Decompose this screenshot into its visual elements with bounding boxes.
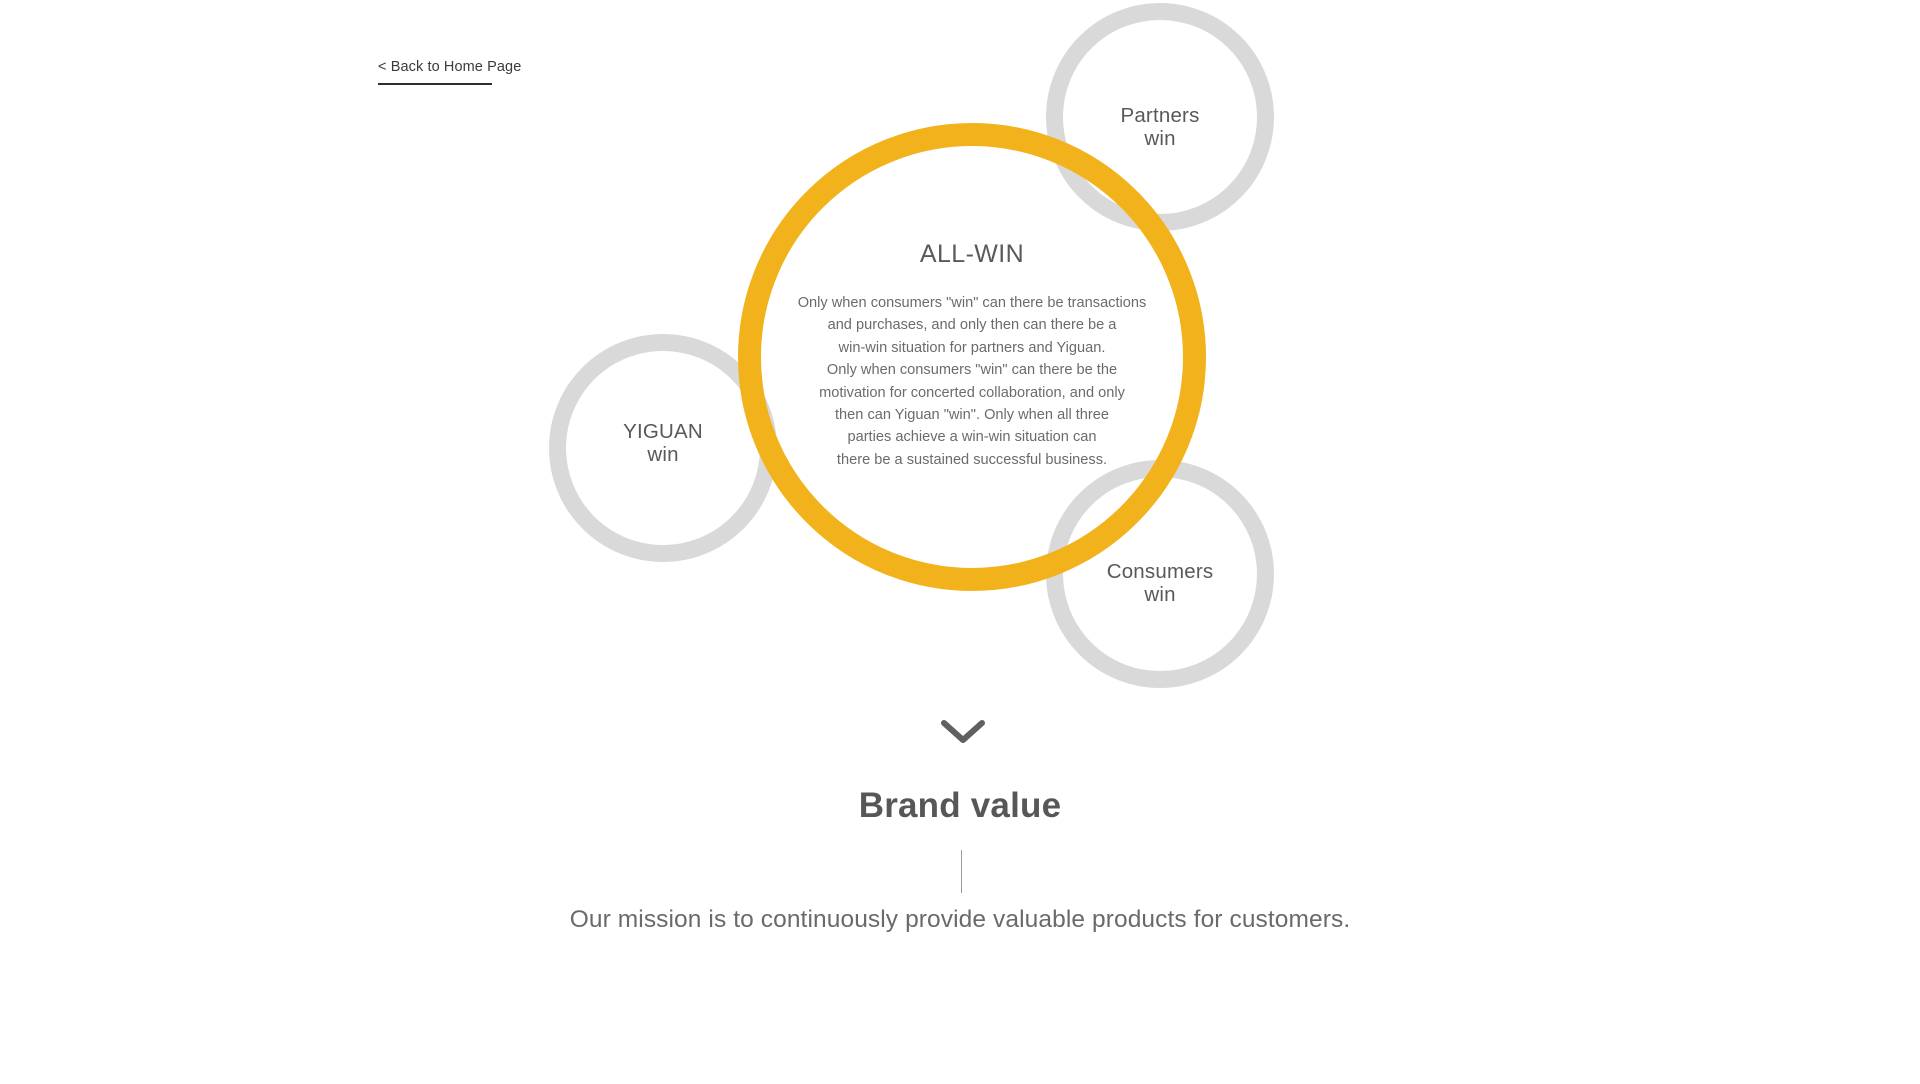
page-root: < Back to Home Page Partners win YIGUAN … bbox=[0, 0, 1920, 1084]
brand-value-heading: Brand value bbox=[0, 786, 1920, 826]
all-win-diagram: Partners win YIGUAN win Consumers win AL… bbox=[0, 0, 1920, 700]
chevron-down-icon[interactable] bbox=[940, 715, 986, 749]
brand-mission-statement: Our mission is to continuously provide v… bbox=[0, 906, 1920, 934]
ring-all-win bbox=[738, 123, 1206, 591]
brand-value-divider bbox=[961, 850, 962, 893]
